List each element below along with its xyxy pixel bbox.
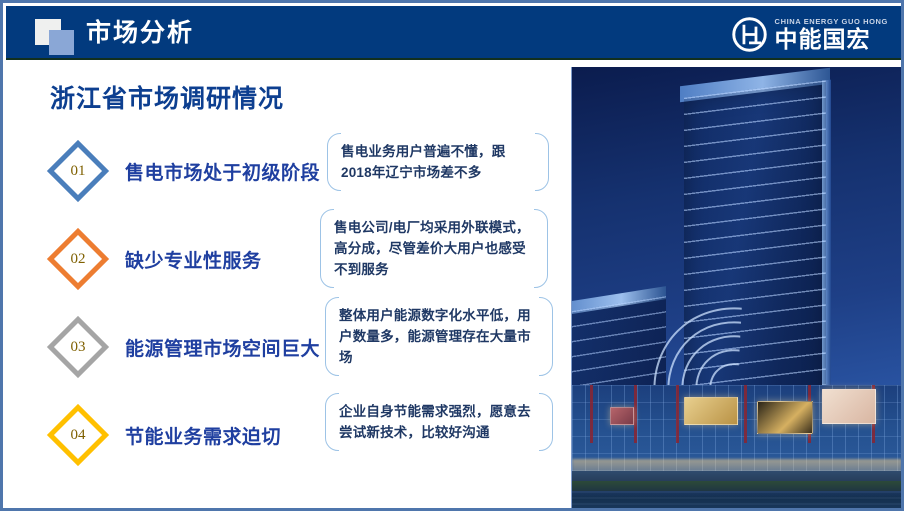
callout-box: 售电业务用户普遍不懂，跟2018年辽宁市场差不多: [327, 133, 549, 191]
callout-box: 企业自身节能需求强烈，愿意去尝试新技术，比较好沟通: [325, 393, 553, 451]
page-title: 市场分析: [86, 17, 194, 49]
header-bar: 市场分析 CHINA ENERGY GUO HONG 中能国宏: [6, 6, 904, 60]
item-number: 01: [47, 140, 109, 202]
billboard: [822, 389, 876, 424]
diamond-badge-02: 02: [47, 228, 109, 290]
logo-english-name: CHINA ENERGY GUO HONG: [775, 17, 888, 27]
podium-accent-stripe: [634, 385, 637, 443]
item-list: 01 售电市场处于初级阶段 02 缺少专业性服务 03 能源管理市场空间巨大 0…: [37, 127, 557, 479]
logo-text: CHINA ENERGY GUO HONG 中能国宏: [775, 17, 888, 52]
item-number: 04: [47, 404, 109, 466]
logo-chinese-name: 中能国宏: [775, 27, 888, 52]
item-number: 02: [47, 228, 109, 290]
item-number: 03: [47, 316, 109, 378]
company-logo: CHINA ENERGY GUO HONG 中能国宏: [731, 14, 888, 54]
waterfront: [572, 491, 902, 509]
podium-accent-stripe: [590, 385, 593, 443]
diamond-badge-03: 03: [47, 316, 109, 378]
diamond-badge-01: 01: [47, 140, 109, 202]
diamond-badge-04: 04: [47, 404, 109, 466]
podium-accent-stripe: [744, 385, 747, 443]
slide: 市场分析 CHINA ENERGY GUO HONG 中能国宏 浙江省市场调研情…: [0, 0, 904, 511]
water-reflection: [572, 491, 902, 509]
billboard: [684, 397, 738, 425]
header-square-blue-icon: [49, 30, 74, 55]
logo-emblem-icon: [731, 16, 768, 53]
building-photo: [571, 67, 902, 509]
item-label: 节能业务需求迫切: [125, 422, 281, 449]
podium-accent-stripe: [676, 385, 679, 443]
callout-box: 售电公司/电厂均采用外联模式，高分成，尽管差价大用户也感受不到服务: [320, 209, 548, 288]
section-title: 浙江省市场调研情况: [50, 79, 284, 115]
item-label: 缺少专业性服务: [125, 246, 262, 273]
callout-box: 整体用户能源数字化水平低，用户数量多，能源管理存在大量市场: [325, 297, 553, 376]
billboard: [610, 407, 634, 425]
billboard: [757, 401, 813, 434]
item-label: 能源管理市场空间巨大: [125, 334, 320, 361]
item-label: 售电市场处于初级阶段: [125, 158, 320, 185]
